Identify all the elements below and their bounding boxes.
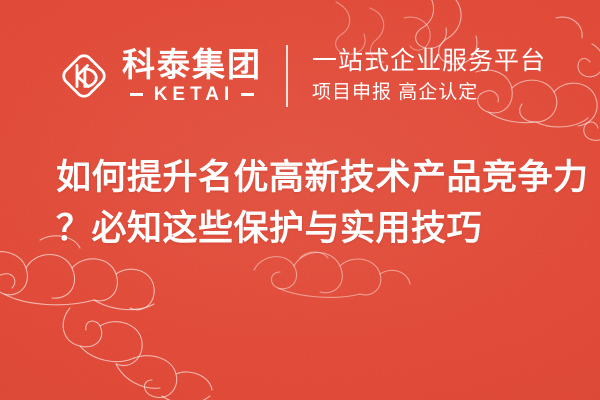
banner-header: 科泰集团 KETAI 一站式企业服务平台 项目申报 高企认定 [0, 30, 600, 122]
kt-diamond-monogram-icon [56, 48, 112, 104]
promo-banner: 科泰集团 KETAI 一站式企业服务平台 项目申报 高企认定 如何提升名优高新技… [0, 0, 600, 400]
wordmark-dash-left [130, 93, 143, 96]
cloud-decoration-bottom-left [0, 230, 224, 400]
tagline-secondary: 项目申报 高企认定 [312, 82, 546, 105]
brand-name-en: KETAI [143, 85, 242, 104]
headline-block: 如何提升名优高新技术产品竞争力 ？必知这些保护与实用技巧 [56, 152, 556, 254]
headline-line-1: 如何提升名优高新技术产品竞争力 [56, 152, 556, 203]
headline-line-2: ？必知这些保护与实用技巧 [56, 203, 556, 254]
brand-wordmark: 科泰集团 KETAI [122, 48, 262, 104]
brand-name-en-row: KETAI [122, 85, 262, 104]
tagline-primary: 一站式企业服务平台 [312, 47, 546, 76]
tagline-block: 一站式企业服务平台 项目申报 高企认定 [312, 47, 546, 106]
brand-name-cn: 科泰集团 [122, 48, 262, 82]
header-divider [286, 45, 288, 107]
brand-logo[interactable]: 科泰集团 KETAI [56, 48, 262, 104]
wordmark-dash-right [241, 93, 254, 96]
